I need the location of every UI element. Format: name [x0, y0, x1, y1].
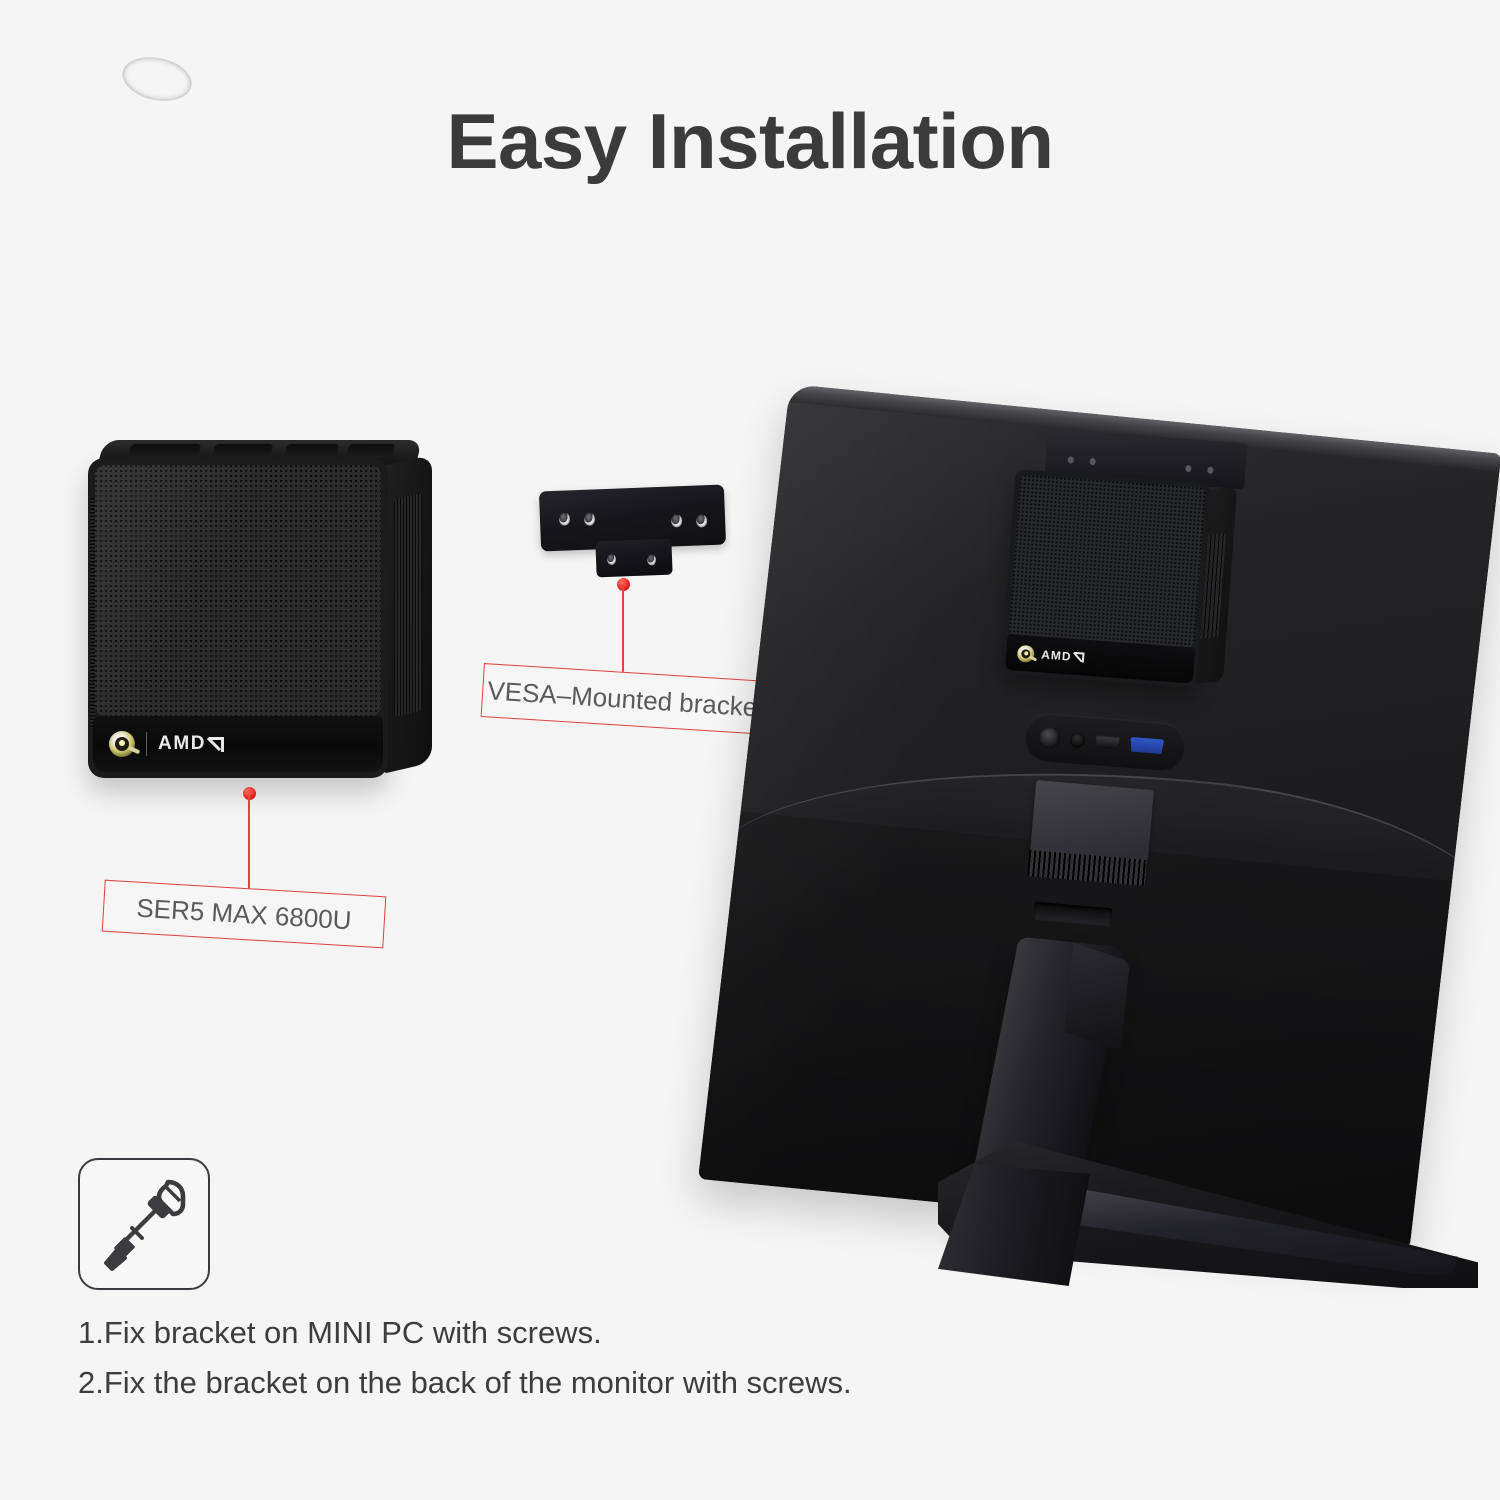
- bracket-hole: [584, 512, 595, 525]
- vesa-bracket: [540, 488, 725, 583]
- monitor-stand-neck-side: [1064, 943, 1130, 1052]
- minipc-top-slot: [128, 444, 202, 457]
- monitor-stand-base: [938, 1128, 1478, 1288]
- callout-line-bracket: [622, 585, 624, 683]
- bracket-hole: [607, 554, 616, 565]
- tool-icon-frame: [78, 1158, 210, 1290]
- vesa-bracket-tab: [595, 539, 672, 578]
- hdmi-icon[interactable]: [1095, 735, 1121, 749]
- barrel-jack-icon[interactable]: [1070, 732, 1086, 748]
- badge-divider: [146, 732, 147, 756]
- amd-label: AMD: [158, 733, 224, 755]
- callout-label-minipc: SER5 MAX 6800U: [102, 880, 387, 949]
- bracket-hole: [696, 514, 707, 527]
- monitor-mounted-assembly: AMD: [1008, 436, 1254, 686]
- minipc-top-slot: [284, 444, 340, 457]
- minipc-brand-badge: AMD: [93, 716, 383, 772]
- bracket-hole: [647, 554, 656, 565]
- instruction-list: 1.Fix bracket on MINI PC with screws. 2.…: [78, 1308, 1178, 1408]
- bracket-hole: [671, 514, 682, 527]
- callout-line-minipc: [248, 794, 250, 897]
- minipc-side-vent: [394, 493, 422, 717]
- beelink-logo-icon: [1017, 644, 1035, 662]
- instruction-step-1: 1.Fix bracket on MINI PC with screws.: [78, 1308, 1178, 1358]
- amd-arrow-icon: [1074, 652, 1085, 663]
- minipc-side-panel: [382, 454, 432, 774]
- monitor-vesa-plate: [1030, 780, 1154, 862]
- callout-text-bracket: VESA–Mounted bracket: [487, 675, 766, 723]
- mounted-minipc-mesh: [1009, 474, 1206, 647]
- minipc-mesh-grille: [95, 465, 381, 716]
- instruction-step-2: 2.Fix the bracket on the back of the mon…: [78, 1358, 1178, 1408]
- page-title: Easy Installation: [0, 96, 1500, 187]
- power-round-icon[interactable]: [1037, 726, 1061, 750]
- beelink-logo-icon: [109, 731, 135, 757]
- callout-label-bracket: VESA–Mounted bracket: [481, 663, 772, 735]
- minipc-ser5-max: AMD: [88, 440, 438, 785]
- vga-icon[interactable]: [1129, 736, 1164, 754]
- infographic-canvas: Easy Installation AMD: [0, 0, 1500, 1500]
- minipc-left-vent: [90, 498, 95, 728]
- bracket-hole: [559, 512, 570, 525]
- screwdriver-icon: [80, 1160, 212, 1292]
- mounted-minipc: AMD: [1001, 469, 1211, 688]
- minipc-top-slot: [212, 444, 274, 457]
- amd-text: AMD: [158, 733, 206, 755]
- amd-arrow-icon: [209, 737, 224, 752]
- minipc-front-panel: AMD: [88, 458, 388, 778]
- minipc-top-slot: [346, 444, 396, 457]
- amd-label: AMD: [1041, 647, 1085, 664]
- callout-text-minipc: SER5 MAX 6800U: [136, 892, 353, 936]
- amd-text: AMD: [1041, 647, 1072, 663]
